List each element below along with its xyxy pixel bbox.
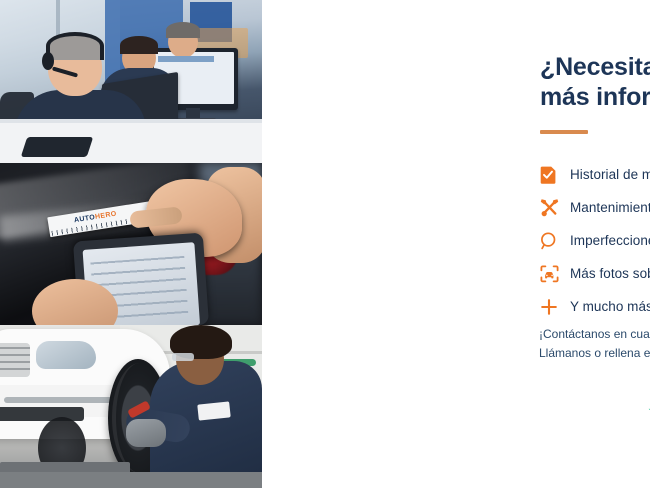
- feature-item-mas: Y mucho más: [540, 290, 650, 323]
- page-title: ¿Necesitas más información?: [540, 52, 650, 112]
- mechanic-logo-patch: [197, 401, 230, 420]
- workshop-floor: [0, 472, 262, 488]
- headset-band: [46, 32, 104, 60]
- feature-label: Y mucho más: [570, 299, 650, 314]
- photo-call-center: [0, 0, 262, 163]
- desk-tablet: [21, 137, 93, 157]
- feature-label: Más fotos sobre el coche: [570, 266, 650, 281]
- car-scan-icon: [540, 265, 570, 283]
- contact-text: ¡Contáctanos en cualquier momento para m…: [539, 325, 650, 364]
- car-headlight: [36, 341, 96, 369]
- title-line-2: más información?: [540, 82, 650, 112]
- crossed-tools-icon: [540, 198, 570, 217]
- bumper-chrome-trim: [4, 397, 114, 403]
- feature-item-mantenimiento: Mantenimiento realizado: [540, 191, 650, 224]
- magnifier-icon: [540, 232, 570, 250]
- car-grille: [0, 343, 30, 377]
- photo-body-measurement: AUTOHERO: [0, 163, 262, 325]
- third-agent-hair: [166, 22, 200, 38]
- work-glove: [126, 419, 166, 447]
- information-banner: AUTOHERO: [0, 0, 650, 488]
- plus-icon: [540, 298, 570, 316]
- feature-list: Historial de mantenimientos Mantenimient…: [540, 158, 650, 323]
- second-agent-hair: [120, 36, 158, 54]
- clipboard-check-icon: [540, 165, 570, 184]
- feature-item-imperfecciones: Imperfecciones: [540, 224, 650, 257]
- feature-label: Imperfecciones: [570, 233, 650, 248]
- feature-label: Mantenimiento realizado: [570, 200, 650, 215]
- feature-item-historial: Historial de mantenimientos: [540, 158, 650, 191]
- contact-text-line-2: Llámanos o rellena el formulario de cont…: [539, 344, 650, 363]
- contact-text-line-1: ¡Contáctanos en cualquier momento para m…: [539, 325, 650, 344]
- title-divider: [540, 130, 588, 134]
- title-line-1: ¿Necesitas: [540, 52, 650, 82]
- feature-label: Historial de mantenimientos: [570, 167, 650, 182]
- photo-wheel-inspection: [0, 325, 262, 488]
- safety-glasses: [172, 353, 194, 361]
- ruler-brand-hero: HERO: [95, 211, 118, 221]
- content-panel: ¿Necesitas más información? Estamos enca…: [262, 0, 650, 488]
- ruler-brand-auto: AUTO: [74, 214, 96, 224]
- feature-item-fotos: Más fotos sobre el coche: [540, 257, 650, 290]
- photo-column: AUTOHERO: [0, 0, 262, 488]
